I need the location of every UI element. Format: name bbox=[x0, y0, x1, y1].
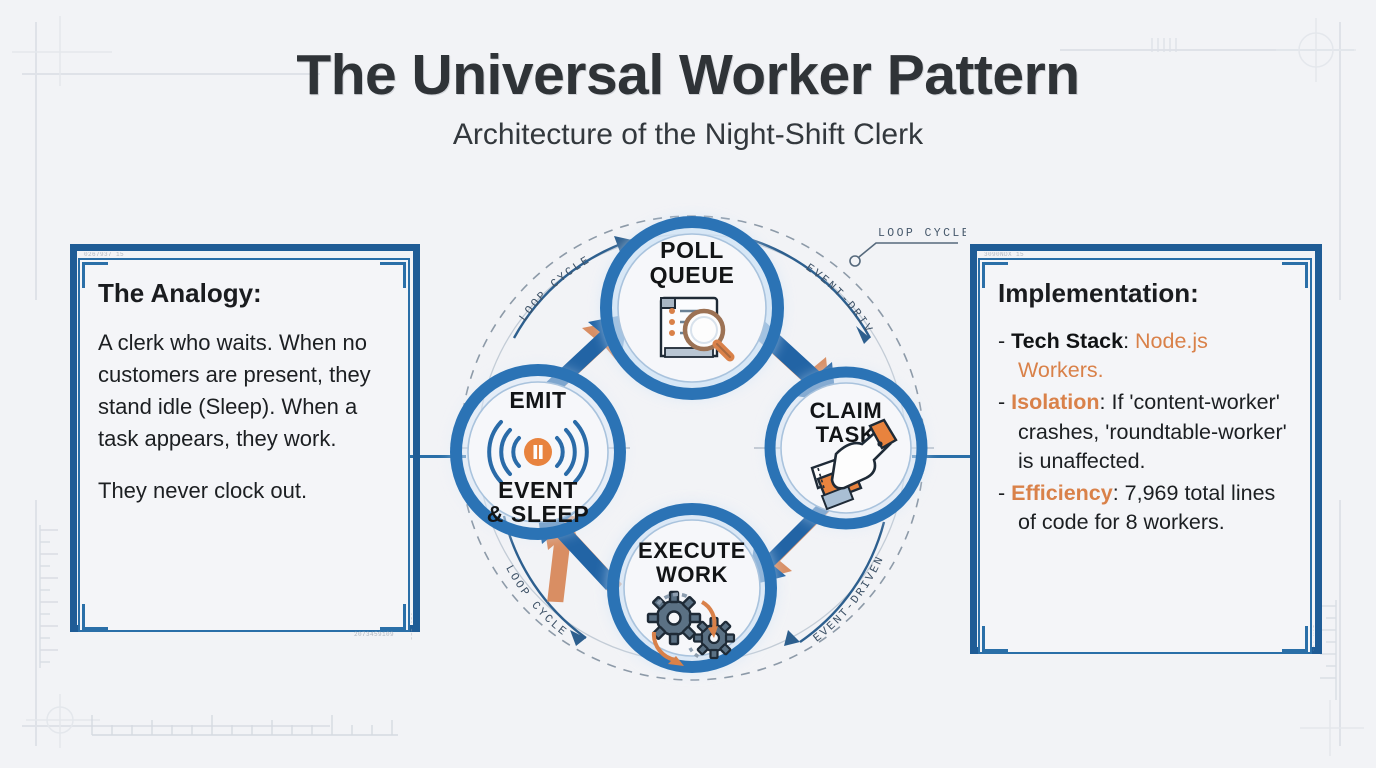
analogy-panel-body: The Analogy: A clerk who waits. When no … bbox=[62, 252, 412, 526]
bullet-key: Efficiency bbox=[1011, 481, 1113, 505]
bullet-dash: - bbox=[998, 390, 1011, 414]
header: The Universal Worker Pattern Architectur… bbox=[0, 46, 1376, 151]
cycle-node-claim-task[interactable]: CLAIM TASK bbox=[766, 368, 926, 528]
callout-loop-cycle: LOOP CYCLE bbox=[850, 227, 966, 266]
implementation-bullet-list: - Tech Stack: Node.js Workers.- Isolatio… bbox=[998, 327, 1288, 538]
bullet-dash: - bbox=[998, 481, 1011, 505]
implementation-panel-body: Implementation: - Tech Stack: Node.js Wo… bbox=[962, 252, 1314, 561]
implementation-bullet: - Efficiency: 7,969 total lines of code … bbox=[998, 479, 1288, 537]
implementation-bullet: - Isolation: If 'content-worker' crashes… bbox=[998, 388, 1288, 476]
emit-sleep-label-line2a: EVENT bbox=[498, 477, 578, 503]
claim-task-label-line1: CLAIM bbox=[810, 398, 883, 423]
cycle-node-emit-event-sleep[interactable]: EMIT EVENT & SLEEP bbox=[452, 366, 624, 538]
analogy-panel: The Analogy: A clerk who waits. When no … bbox=[62, 252, 412, 640]
execute-work-label-line2: WORK bbox=[656, 562, 728, 587]
corner-tick-bottom-left bbox=[82, 604, 108, 630]
corner-tick-bottom-left bbox=[982, 626, 1008, 652]
bullet-key: Isolation bbox=[1011, 390, 1099, 414]
bullet-dash: - bbox=[998, 329, 1011, 353]
emit-sleep-label-line1: EMIT bbox=[509, 387, 566, 413]
callout-leader-line bbox=[859, 243, 958, 257]
implementation-bullet: - Tech Stack: Node.js Workers. bbox=[998, 327, 1288, 385]
cycle-node-poll-queue[interactable]: POLL QUEUE bbox=[602, 218, 782, 398]
callout-loop-cycle-label: LOOP CYCLE bbox=[878, 227, 966, 240]
corner-tick-bottom-right bbox=[1282, 626, 1308, 652]
implementation-panel: Implementation: - Tech Stack: Node.js Wo… bbox=[962, 252, 1314, 662]
analogy-paragraph-1: A clerk who waits. When no customers are… bbox=[98, 327, 386, 455]
execute-work-label-line1: EXECUTE bbox=[638, 538, 746, 563]
cycle-node-execute-work[interactable]: EXECUTE WORK bbox=[608, 504, 776, 672]
ruler-right bbox=[1320, 600, 1336, 700]
bullet-separator: : bbox=[1100, 390, 1112, 414]
ring-label-event-driven-bottom-right: EVENT-DRIVEN bbox=[811, 553, 887, 645]
callout-node-diamond bbox=[850, 256, 860, 266]
implementation-panel-title: Implementation: bbox=[998, 278, 1288, 309]
pause-badge bbox=[524, 438, 552, 466]
bullet-key: Tech Stack bbox=[1011, 329, 1123, 353]
ruler-left bbox=[40, 525, 58, 668]
bullet-separator: : bbox=[1113, 481, 1125, 505]
poll-queue-label-line1: POLL bbox=[660, 237, 724, 263]
page-title: The Universal Worker Pattern bbox=[0, 46, 1376, 106]
ruler-bottom bbox=[92, 715, 398, 735]
analogy-panel-title: The Analogy: bbox=[98, 278, 386, 309]
corner-tick-bottom-right bbox=[380, 604, 406, 630]
worker-cycle-diagram: LOOP CYCLE EVENT-DRIVEN LOOP CYCLE EVENT… bbox=[418, 186, 966, 716]
analogy-paragraph-2: They never clock out. bbox=[98, 475, 386, 507]
microtext-bottom: 2073459109 bbox=[354, 631, 394, 638]
emit-sleep-label-line2b: & SLEEP bbox=[487, 501, 590, 527]
page-subtitle: Architecture of the Night-Shift Clerk bbox=[0, 118, 1376, 151]
poll-queue-label-line2: QUEUE bbox=[650, 262, 735, 288]
bullet-separator: : bbox=[1123, 329, 1135, 353]
